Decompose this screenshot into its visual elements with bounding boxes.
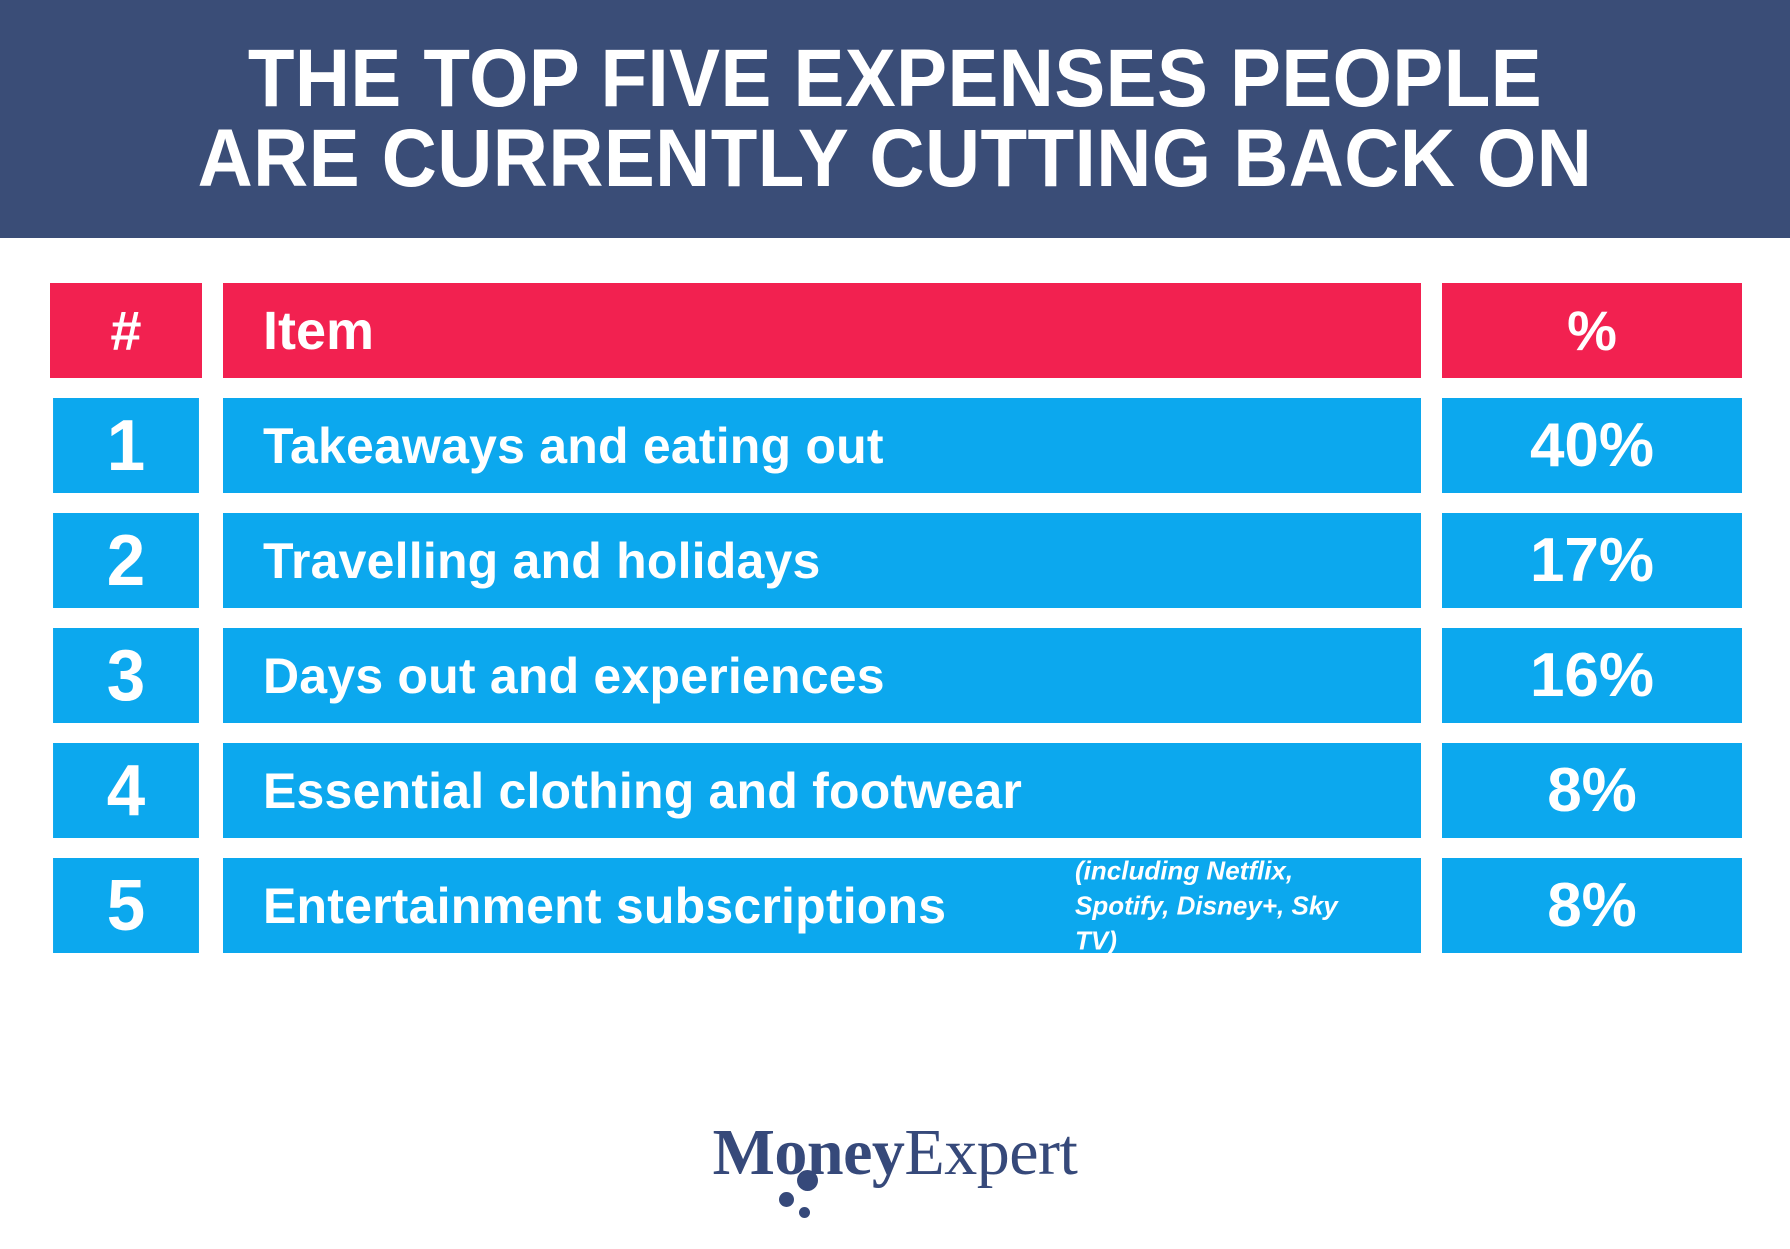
bubble-large-icon — [797, 1170, 818, 1191]
bubbles-icon — [777, 1170, 837, 1222]
row-percent: 40% — [1442, 398, 1742, 493]
table-row: 3 Days out and experiences 16% — [50, 628, 1742, 723]
header-banner: THE TOP FIVE EXPENSES PEOPLE ARE CURRENT… — [0, 0, 1790, 238]
row-item: Takeaways and eating out — [223, 398, 1421, 493]
row-item-label: Days out and experiences — [263, 647, 885, 705]
row-rank: 3 — [53, 628, 199, 723]
row-item-note: (including Netflix, Spotify, Disney+, Sk… — [1075, 853, 1385, 958]
row-item-label: Travelling and holidays — [263, 532, 821, 590]
row-item-label: Entertainment subscriptions — [263, 877, 946, 935]
row-percent: 8% — [1442, 743, 1742, 838]
column-header-item-label: Item — [263, 300, 374, 362]
row-rank: 4 — [53, 743, 199, 838]
logo-container: MoneyExpert — [0, 1120, 1790, 1186]
column-header-rank: # — [50, 283, 202, 378]
row-percent: 8% — [1442, 858, 1742, 953]
logo-word-expert: Expert — [904, 1120, 1077, 1186]
table-row: 5 Entertainment subscriptions (including… — [50, 858, 1742, 953]
row-item: Days out and experiences — [223, 628, 1421, 723]
row-rank: 2 — [53, 513, 199, 608]
expenses-table: # Item % 1 Takeaways and eating out 40% … — [50, 283, 1742, 973]
row-percent: 17% — [1442, 513, 1742, 608]
bubble-small-icon — [799, 1207, 810, 1218]
page-title: THE TOP FIVE EXPENSES PEOPLE ARE CURRENT… — [170, 39, 1621, 200]
infographic-root: THE TOP FIVE EXPENSES PEOPLE ARE CURRENT… — [0, 0, 1790, 1249]
column-header-percent: % — [1442, 283, 1742, 378]
row-percent: 16% — [1442, 628, 1742, 723]
row-item: Essential clothing and footwear — [223, 743, 1421, 838]
moneyexpert-logo: MoneyExpert — [713, 1120, 1078, 1186]
table-row: 1 Takeaways and eating out 40% — [50, 398, 1742, 493]
column-header-item: Item — [223, 283, 1421, 378]
table-row: 4 Essential clothing and footwear 8% — [50, 743, 1742, 838]
bubble-medium-icon — [779, 1192, 794, 1207]
row-rank: 5 — [53, 858, 199, 953]
row-item: Entertainment subscriptions (including N… — [223, 858, 1421, 953]
table-row: 2 Travelling and holidays 17% — [50, 513, 1742, 608]
row-rank: 1 — [53, 398, 199, 493]
table-header-row: # Item % — [50, 283, 1742, 378]
row-item-label: Takeaways and eating out — [263, 417, 884, 475]
row-item: Travelling and holidays — [223, 513, 1421, 608]
row-item-label: Essential clothing and footwear — [263, 762, 1022, 820]
